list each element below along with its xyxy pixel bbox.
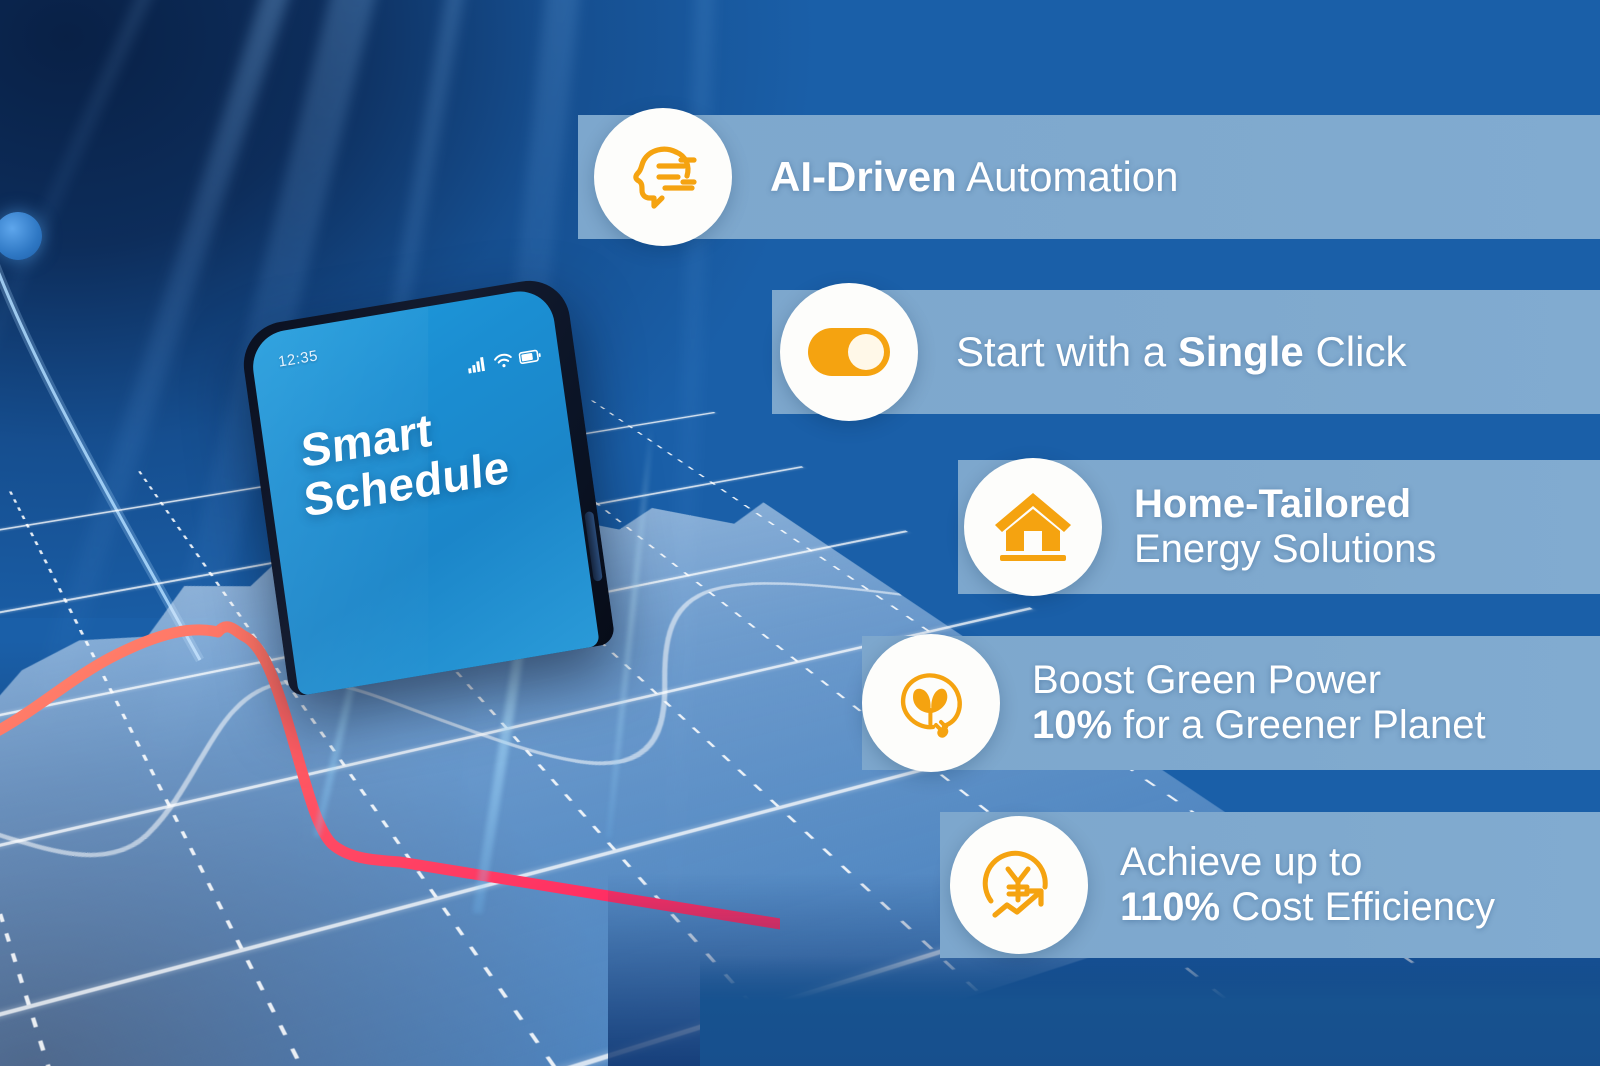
feature-label-emphasis: Single xyxy=(1178,328,1304,375)
feature-label-rest: for a Greener Planet xyxy=(1112,703,1486,747)
feature-row-label: Achieve up to 110% Cost Efficiency xyxy=(1120,840,1495,930)
feature-row-label: Boost Green Power 10% for a Greener Plan… xyxy=(1032,658,1486,748)
plant-plug-icon xyxy=(889,661,973,745)
house-icon-badge xyxy=(964,458,1102,596)
feature-row-cost-efficiency[interactable]: Achieve up to 110% Cost Efficiency xyxy=(940,812,1600,958)
feature-label-line2: Energy Solutions xyxy=(1134,527,1436,572)
feature-label-line1: Achieve up to xyxy=(1120,840,1495,885)
feature-row-boost-green-power[interactable]: Boost Green Power 10% for a Greener Plan… xyxy=(862,636,1600,770)
feature-row-label: Start with a Single Click xyxy=(956,328,1406,375)
yen-growth-icon xyxy=(977,843,1061,927)
feature-row-ai-driven-automation[interactable]: AI-Driven Automation xyxy=(578,115,1600,239)
ai-head-icon-badge xyxy=(594,108,732,246)
plant-plug-icon-badge xyxy=(862,634,1000,772)
feature-row-single-click[interactable]: Start with a Single Click xyxy=(772,290,1600,414)
feature-row-label: Home-Tailored Energy Solutions xyxy=(1134,482,1436,572)
ai-head-icon xyxy=(624,138,702,216)
feature-label-emphasis: 110% xyxy=(1120,885,1220,929)
yen-growth-icon-badge xyxy=(950,816,1088,954)
feature-list: AI-Driven Automation Start with a Single… xyxy=(0,0,1600,1066)
feature-label-emphasis: AI-Driven xyxy=(770,153,957,200)
house-icon xyxy=(992,489,1074,565)
toggle-switch-icon-badge xyxy=(780,283,918,421)
feature-label-line1: Boost Green Power xyxy=(1032,658,1486,703)
feature-label-rest: Cost Efficiency xyxy=(1220,885,1495,929)
feature-label-line1: Home-Tailored xyxy=(1134,482,1436,527)
feature-label-rest: Automation xyxy=(957,153,1179,200)
feature-label-suffix: Click xyxy=(1304,328,1407,375)
feature-label-emphasis: 10% xyxy=(1032,703,1112,747)
feature-label-prefix: Start with a xyxy=(956,328,1178,375)
toggle-switch-icon[interactable] xyxy=(806,326,892,378)
feature-row-label: AI-Driven Automation xyxy=(770,153,1179,200)
feature-row-home-tailored-energy[interactable]: Home-Tailored Energy Solutions xyxy=(958,460,1600,594)
promotional-graphic: 12:35 S xyxy=(0,0,1600,1066)
